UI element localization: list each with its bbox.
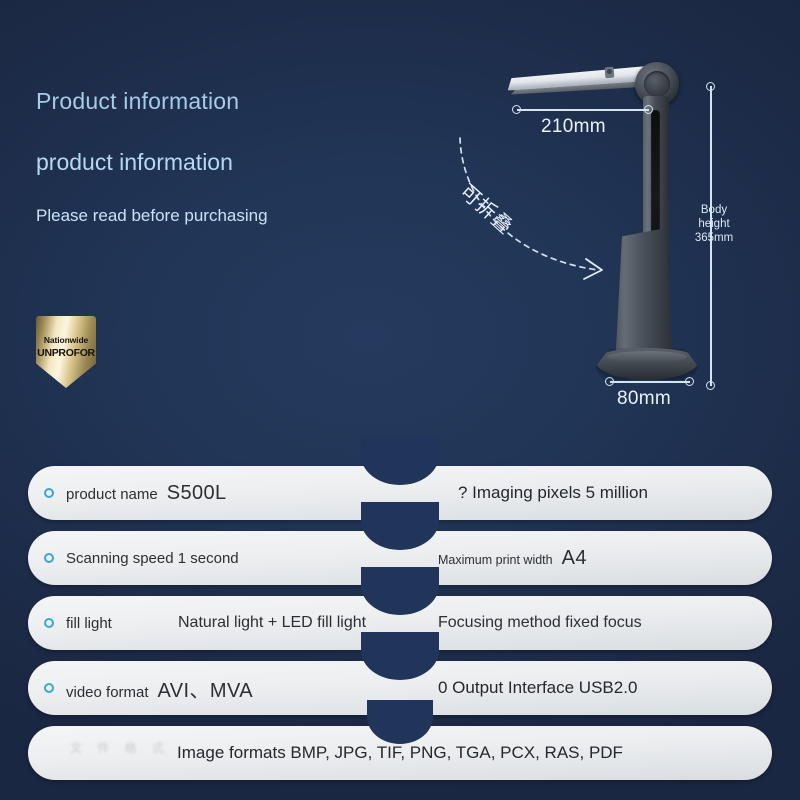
dimension-line-base-width (610, 381, 690, 383)
dimension-dot-base-right (685, 377, 694, 386)
bullet-marker-icon (44, 553, 54, 563)
spec-value-video-format: AVI、MVA (158, 674, 253, 703)
spec-label-product-name: product name (66, 486, 158, 503)
page-title: Product information (36, 88, 456, 116)
spec-value-fill-light: Natural light + LED fill light (178, 614, 366, 632)
dimension-dot-height-top (706, 82, 715, 91)
dimension-label-height-line1: Body (693, 203, 735, 217)
dimension-label-height: Body height 365mm (693, 203, 735, 245)
spec-right-cell: 0 Output Interface USB2.0 (438, 678, 637, 698)
spec-row-image-formats[interactable]: 文 件 格 式 Image formats BMP, JPG, TIF, PNG… (28, 726, 772, 780)
product-info-page: Product information product information … (0, 0, 800, 800)
spec-list: product name S500L ? Imaging pixels 5 mi… (28, 466, 772, 791)
dimension-dot-height-bottom (706, 381, 715, 390)
spec-row-fill-light[interactable]: fill light Natural light + LED fill ligh… (28, 596, 772, 650)
badge-line-1: Nationwide (44, 335, 88, 345)
bullet-marker-icon (44, 488, 54, 498)
spec-label-fill-light: fill light (66, 615, 112, 632)
nationwide-shield-badge: Nationwide UNPROFOR (36, 316, 96, 388)
spec-label-focusing-method: Focusing method fixed focus (438, 614, 642, 632)
spec-label-max-print-width: Maximum print width (438, 553, 553, 567)
spec-row-scanning-speed[interactable]: Scanning speed 1 second Maximum print wi… (28, 531, 772, 585)
dimension-label-base-width: 80mm (617, 388, 671, 410)
spec-value-product-name: S500L (167, 482, 227, 505)
spec-label-video-format: video format (66, 684, 149, 701)
spec-label-scanning-speed: Scanning speed 1 second (66, 550, 239, 567)
scanner-base-highlight (607, 351, 687, 363)
camera-lens-icon (605, 67, 615, 79)
spec-label-output-interface: 0 Output Interface USB2.0 (438, 678, 637, 698)
badge-line-2: UNPROFOR (37, 347, 95, 359)
bullet-marker-icon (44, 683, 54, 693)
bullet-marker-icon (44, 618, 54, 628)
spec-row-video-format[interactable]: video format AVI、MVA 0 Output Interface … (28, 661, 772, 715)
page-note: Please read before purchasing (36, 206, 456, 226)
heading-group: Product information product information … (36, 88, 456, 227)
dimension-dot-width-right (644, 105, 653, 114)
spec-right-cell: Maximum print width A4 (438, 547, 587, 570)
dimension-line-width (517, 109, 649, 111)
spec-row-product-name[interactable]: product name S500L ? Imaging pixels 5 mi… (28, 466, 772, 520)
spec-value-fill-light-wrap: Natural light + LED fill light (178, 614, 366, 632)
dimension-dot-base-left (605, 377, 614, 386)
spec-left-cell: fill light (66, 615, 112, 632)
dimension-label-height-line3: 365mm (693, 231, 735, 245)
spec-left-cell: product name S500L (66, 482, 227, 505)
foldable-annotation: 可折叠 (450, 130, 630, 290)
dimension-label-height-line2: height (693, 217, 735, 231)
spec-right-cell: ? Imaging pixels 5 million (458, 483, 648, 503)
spec-value-max-print-width: A4 (562, 547, 587, 570)
spec-left-cell: video format AVI、MVA (66, 674, 253, 703)
dimension-dot-width-left (512, 105, 521, 114)
spec-right-cell: Focusing method fixed focus (438, 614, 642, 632)
spec-label-image-formats: Image formats BMP, JPG, TIF, PNG, TGA, P… (177, 743, 623, 763)
spec-label-imaging-pixels: ? Imaging pixels 5 million (458, 483, 648, 503)
spec-left-cell: Scanning speed 1 second (66, 550, 239, 567)
spec-ghost-text: 文 件 格 式 (70, 739, 170, 756)
page-subtitle: product information (36, 149, 456, 177)
